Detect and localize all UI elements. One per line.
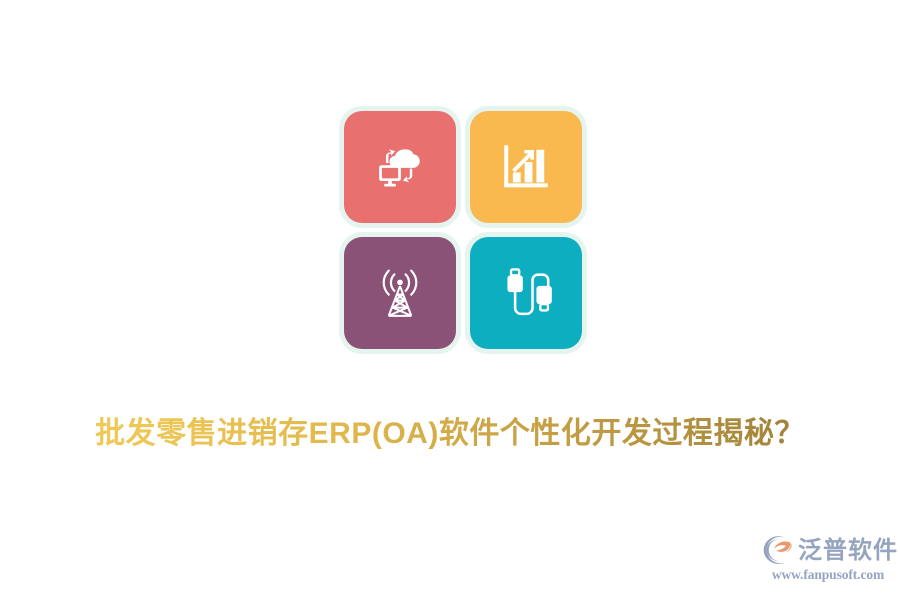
fanpu-logo-icon	[762, 535, 794, 565]
tile-usb-cable[interactable]	[470, 237, 582, 349]
icon-tile-grid	[337, 104, 589, 356]
watermark-brand-text: 泛普软件	[798, 535, 898, 565]
tile-growth-chart[interactable]	[470, 111, 582, 223]
banner-canvas: 批发零售进销存ERP(OA)软件个性化开发过程揭秘？ 泛普软件 www.fanp…	[0, 0, 900, 600]
tile-broadcast-tower[interactable]	[344, 237, 456, 349]
tile-cloud-sync[interactable]	[344, 111, 456, 223]
usb-cable-icon	[497, 264, 555, 322]
page-title: 批发零售进销存ERP(OA)软件个性化开发过程揭秘？	[0, 412, 900, 456]
watermark: 泛普软件 www.fanpusoft.com	[762, 533, 894, 589]
radio-tower-antenna-icon	[371, 264, 429, 322]
cloud-sync-monitor-icon	[371, 138, 429, 196]
watermark-url-text: www.fanpusoft.com	[762, 567, 894, 583]
bar-chart-growth-icon	[497, 138, 555, 196]
watermark-brand-row: 泛普软件	[762, 533, 894, 567]
